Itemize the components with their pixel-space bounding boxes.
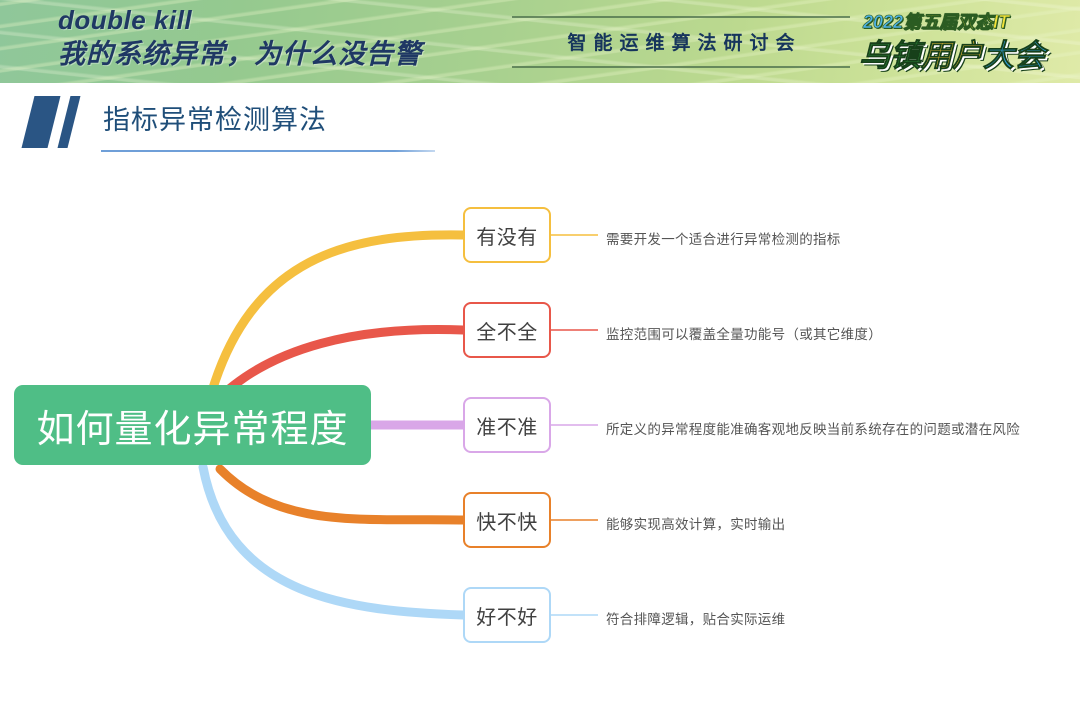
mindmap-branch-label-4: 好不好 [476,601,538,630]
mindmap-branch-label-0: 有没有 [476,221,538,250]
event-logo-meeting: 大会 [983,38,1045,73]
event-logo-year: 2022 [863,12,903,32]
mindmap-branch-box-4[interactable]: 好不好 [463,587,551,643]
header-banner: double kill 我的系统异常，为什么没告警 智能运维算法研讨会 2022… [0,0,1080,83]
conference-rule-bottom [512,66,850,68]
mindmap-branch-description-2: 所定义的异常程度能准确客观地反映当前系统存在的问题或潜在风险 [606,418,1020,438]
mindmap-branch-description-3: 能够实现高效计算，实时输出 [606,513,785,533]
mindmap-branch-box-2[interactable]: 准不准 [463,397,551,453]
title-accent-bar-narrow [58,96,81,148]
event-logo-place: 乌镇 [859,38,921,73]
event-logo: 2022第五届双态IT 乌镇用户大会 [855,6,1045,76]
mindmap-branch-description-4: 符合排障逻辑，贴合实际运维 [606,608,785,628]
edge-curve-branch-3 [220,469,463,520]
banner-title-line2: 我的系统异常，为什么没告警 [58,36,422,72]
event-logo-line2: 乌镇用户大会 [859,30,1045,75]
page-title: 指标异常检测算法 [103,98,327,137]
mindmap-root-label: 如何量化异常程度 [36,398,348,453]
title-underline [101,150,435,152]
mindmap-branch-description-0: 需要开发一个适合进行异常检测的指标 [606,228,841,248]
event-logo-user: 用户 [921,38,983,73]
mindmap-diagram: 如何量化异常程度 有没有 全不全 准不准 快不快 好不好 需要开发一个适合进行异… [0,160,1080,712]
conference-rule-top [512,16,850,18]
mindmap-branch-label-2: 准不准 [476,411,538,440]
mindmap-branch-box-3[interactable]: 快不快 [463,492,551,548]
mindmap-branch-description-1: 监控范围可以覆盖全量功能号（或其它维度） [606,323,882,343]
banner-title-block: double kill 我的系统异常，为什么没告警 [58,4,422,72]
mindmap-branch-label-1: 全不全 [476,316,538,345]
title-accent-bar-wide [22,96,61,148]
conference-name-block: 智能运维算法研讨会 [512,16,850,68]
mindmap-branch-box-1[interactable]: 全不全 [463,302,551,358]
conference-name-text: 智能运维算法研讨会 [512,28,850,55]
mindmap-root-node[interactable]: 如何量化异常程度 [14,385,371,465]
event-logo-edition: 第五届双态IT [903,12,1009,32]
mindmap-branch-box-0[interactable]: 有没有 [463,207,551,263]
banner-title-line1: double kill [58,4,422,36]
mindmap-branch-label-3: 快不快 [476,506,538,535]
title-accent-bars [24,96,84,148]
